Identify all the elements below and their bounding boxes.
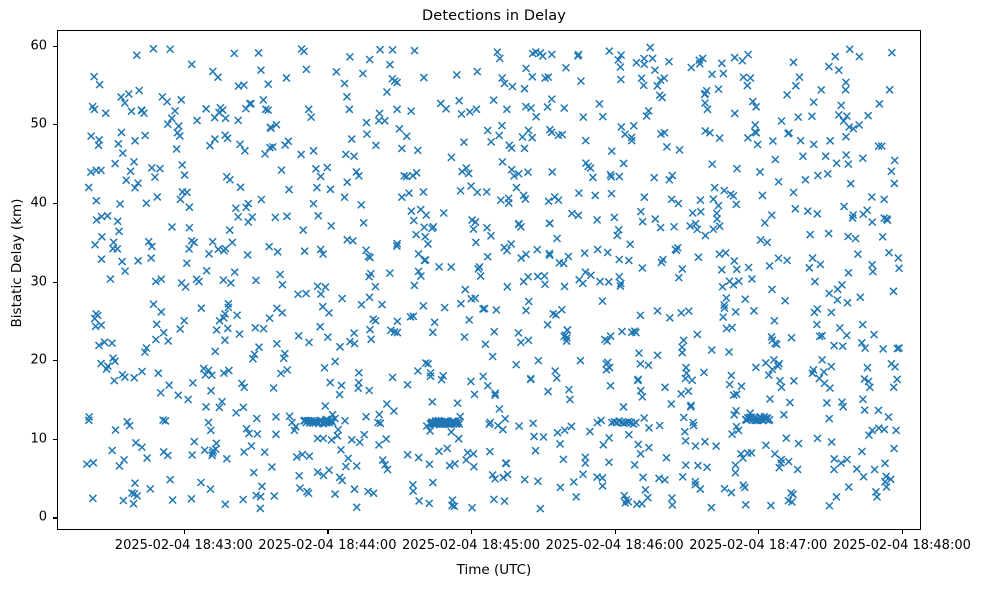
scatter-marker <box>553 375 560 382</box>
scatter-marker <box>205 419 212 426</box>
scatter-marker <box>440 210 447 217</box>
scatter-marker <box>539 53 546 60</box>
scatter-marker <box>423 212 430 219</box>
scatter-marker <box>319 303 326 310</box>
scatter-marker <box>676 146 683 153</box>
scatter-marker <box>179 161 186 168</box>
scatter-marker <box>295 332 302 339</box>
scatter-marker <box>529 134 536 141</box>
scatter-marker <box>114 245 121 252</box>
scatter-marker <box>119 150 126 157</box>
scatter-marker <box>784 91 791 98</box>
scatter-marker <box>762 359 769 366</box>
scatter-marker <box>633 501 640 508</box>
scatter-marker <box>280 355 287 362</box>
scatter-marker <box>489 353 496 360</box>
scatter-marker <box>671 223 678 230</box>
scatter-marker <box>826 415 833 422</box>
scatter-marker <box>370 490 377 497</box>
scatter-marker <box>502 460 509 467</box>
scatter-marker <box>715 86 722 93</box>
scatter-marker <box>332 358 339 365</box>
scatter-marker <box>645 362 652 369</box>
scatter-marker <box>462 286 469 293</box>
scatter-marker <box>826 385 833 392</box>
matplotlib-figure: Detections in Delay Bistatic Delay (km) … <box>0 0 988 590</box>
scatter-marker <box>339 295 346 302</box>
scatter-marker <box>625 431 632 438</box>
scatter-marker <box>842 86 849 93</box>
scatter-marker <box>143 200 150 207</box>
scatter-marker <box>110 239 117 246</box>
scatter-marker <box>641 55 648 62</box>
scatter-marker <box>682 437 689 444</box>
scatter-marker <box>98 233 105 240</box>
scatter-marker <box>160 448 167 455</box>
scatter-marker <box>540 434 547 441</box>
scatter-marker <box>383 401 390 408</box>
scatter-marker <box>814 172 821 179</box>
scatter-marker <box>338 382 345 389</box>
scatter-marker <box>261 449 268 456</box>
scatter-marker <box>721 485 728 492</box>
scatter-marker <box>818 86 825 93</box>
scatter-marker <box>517 339 524 346</box>
scatter-marker <box>166 382 173 389</box>
scatter-marker <box>678 390 685 397</box>
scatter-marker <box>268 463 275 470</box>
scatter-marker <box>513 184 520 191</box>
scatter-marker <box>627 241 634 248</box>
scatter-marker <box>206 142 213 149</box>
scatter-marker <box>213 327 220 334</box>
scatter-marker <box>748 275 755 282</box>
scatter-marker <box>296 472 303 479</box>
scatter-marker <box>778 384 785 391</box>
scatter-marker <box>896 265 903 272</box>
scatter-marker <box>831 342 838 349</box>
scatter-marker <box>345 455 352 462</box>
scatter-marker <box>577 357 584 364</box>
scatter-marker <box>838 102 845 109</box>
scatter-marker <box>742 296 749 303</box>
scatter-marker <box>768 212 775 219</box>
scatter-marker <box>260 96 267 103</box>
scatter-marker <box>258 196 265 203</box>
scatter-marker <box>414 367 421 374</box>
scatter-marker <box>702 232 709 239</box>
scatter-marker <box>586 428 593 435</box>
scatter-marker <box>754 141 761 148</box>
scatter-marker <box>363 413 370 420</box>
scatter-marker <box>790 189 797 196</box>
scatter-marker <box>355 369 362 376</box>
scatter-marker <box>504 471 511 478</box>
scatter-marker <box>351 486 358 493</box>
scatter-marker <box>500 474 507 481</box>
scatter-marker <box>154 193 161 200</box>
scatter-marker <box>692 443 699 450</box>
x-tick-label: 2025-02-04 18:46:00 <box>546 538 684 553</box>
scatter-marker <box>802 176 809 183</box>
scatter-marker <box>128 108 135 115</box>
scatter-marker <box>85 184 92 191</box>
scatter-marker <box>836 324 843 331</box>
scatter-marker <box>172 107 179 114</box>
scatter-marker <box>761 219 768 226</box>
scatter-marker <box>766 262 773 269</box>
scatter-marker <box>891 180 898 187</box>
scatter-marker <box>744 82 751 89</box>
scatter-marker <box>372 317 379 324</box>
scatter-marker <box>466 108 473 115</box>
scatter-marker <box>186 224 193 231</box>
scatter-marker <box>509 83 516 90</box>
scatter-marker <box>866 384 873 391</box>
scatter-marker <box>744 134 751 141</box>
scatter-marker <box>398 145 405 152</box>
scatter-marker <box>833 160 840 167</box>
scatter-marker <box>303 290 310 297</box>
scatter-marker <box>565 386 572 393</box>
scatter-marker <box>188 61 195 68</box>
scatter-marker <box>348 436 355 443</box>
scatter-marker <box>548 96 555 103</box>
scatter-marker <box>448 263 455 270</box>
scatter-marker <box>455 435 462 442</box>
scatter-marker <box>716 135 723 142</box>
scatter-marker <box>363 247 370 254</box>
scatter-marker <box>157 165 164 172</box>
scatter-marker <box>822 153 829 160</box>
scatter-marker <box>681 428 688 435</box>
scatter-marker <box>490 496 497 503</box>
scatter-marker <box>436 263 443 270</box>
scatter-marker <box>148 255 155 262</box>
scatter-marker <box>420 189 427 196</box>
scatter-marker <box>130 158 137 165</box>
scatter-marker <box>415 454 422 461</box>
scatter-marker <box>709 71 716 78</box>
scatter-marker <box>372 283 379 290</box>
scatter-marker <box>795 440 802 447</box>
scatter-marker <box>121 456 128 463</box>
scatter-marker <box>854 251 861 258</box>
scatter-marker <box>322 403 329 410</box>
scatter-marker <box>348 136 355 143</box>
scatter-marker <box>869 219 876 226</box>
scatter-marker <box>708 346 715 353</box>
scatter-marker <box>396 125 403 132</box>
scatter-marker <box>300 227 307 234</box>
scatter-marker <box>635 441 642 448</box>
x-tick-label: 2025-02-04 18:44:00 <box>258 538 396 553</box>
scatter-marker <box>116 228 123 235</box>
scatter-marker <box>750 307 757 314</box>
scatter-marker <box>525 337 532 344</box>
scatter-marker <box>843 152 850 159</box>
scatter-marker <box>472 239 479 246</box>
scatter-marker <box>356 439 363 446</box>
scatter-marker <box>202 371 209 378</box>
scatter-marker <box>668 495 675 502</box>
scatter-marker <box>429 479 436 486</box>
scatter-marker <box>826 290 833 297</box>
scatter-marker <box>121 99 128 106</box>
scatter-marker <box>468 183 475 190</box>
scatter-marker <box>528 105 535 112</box>
scatter-marker <box>203 403 210 410</box>
scatter-marker <box>545 198 552 205</box>
scatter-marker <box>675 274 682 281</box>
scatter-marker <box>882 460 889 467</box>
scatter-marker <box>151 174 158 181</box>
scatter-marker <box>496 55 503 62</box>
scatter-marker <box>178 96 185 103</box>
scatter-marker <box>463 456 470 463</box>
scatter-marker <box>616 256 623 263</box>
scatter-marker <box>273 305 280 312</box>
scatter-marker <box>366 387 373 394</box>
scatter-marker <box>844 299 851 306</box>
x-tick-mark <box>327 530 328 534</box>
scatter-marker <box>266 315 273 322</box>
scatter-marker <box>326 309 333 316</box>
scatter-marker <box>121 374 128 381</box>
scatter-marker <box>834 296 841 303</box>
scatter-marker <box>621 131 628 138</box>
scatter-marker <box>480 373 487 380</box>
scatter-marker <box>825 63 832 70</box>
scatter-marker <box>555 197 562 204</box>
scatter-marker <box>560 456 567 463</box>
x-tick-mark <box>471 530 472 534</box>
scatter-marker <box>513 361 520 368</box>
scatter-marker <box>298 151 305 158</box>
scatter-marker <box>503 106 510 113</box>
scatter-marker <box>816 375 823 382</box>
scatter-marker <box>317 173 324 180</box>
scatter-marker <box>125 90 132 97</box>
scatter-marker <box>484 253 491 260</box>
scatter-marker <box>235 117 242 124</box>
scatter-marker <box>266 243 273 250</box>
scatter-marker <box>384 89 391 96</box>
scatter-marker <box>225 300 232 307</box>
scatter-marker <box>788 334 795 341</box>
scatter-marker <box>454 400 461 407</box>
scatter-marker <box>810 99 817 106</box>
scatter-marker <box>92 241 99 248</box>
scatter-marker <box>880 345 887 352</box>
scatter-marker <box>685 388 692 395</box>
scatter-marker <box>222 115 229 122</box>
scatter-marker <box>410 488 417 495</box>
scatter-marker <box>775 178 782 185</box>
scatter-marker <box>532 447 539 454</box>
scatter-marker <box>337 446 344 453</box>
scatter-marker <box>179 188 186 195</box>
scatter-marker <box>807 231 814 238</box>
scatter-marker <box>881 426 888 433</box>
scatter-marker <box>668 196 675 203</box>
scatter-marker <box>188 495 195 502</box>
scatter-marker <box>255 344 262 351</box>
scatter-marker <box>811 278 818 285</box>
scatter-marker <box>155 370 162 377</box>
scatter-marker <box>721 187 728 194</box>
scatter-marker <box>549 168 556 175</box>
scatter-marker <box>694 226 701 233</box>
scatter-marker <box>747 74 754 81</box>
scatter-marker <box>752 364 759 371</box>
scatter-marker <box>666 314 673 321</box>
scatter-marker <box>778 118 785 125</box>
scatter-marker <box>605 459 612 466</box>
scatter-marker <box>733 165 740 172</box>
scatter-marker <box>718 60 725 67</box>
scatter-marker <box>577 78 584 85</box>
scatter-marker <box>561 105 568 112</box>
scatter-marker <box>224 325 231 332</box>
y-tick-label: 50 <box>30 117 47 132</box>
x-tick-label: 2025-02-04 18:48:00 <box>833 538 971 553</box>
scatter-marker <box>654 307 661 314</box>
scatter-marker <box>360 219 367 226</box>
scatter-marker <box>123 177 130 184</box>
scatter-marker <box>220 247 227 254</box>
scatter-marker <box>205 250 212 257</box>
scatter-marker <box>284 367 291 374</box>
scatter-marker <box>654 352 661 359</box>
scatter-marker <box>891 157 898 164</box>
scatter-marker <box>570 479 577 486</box>
scatter-marker <box>209 238 216 245</box>
scatter-marker <box>695 254 702 261</box>
scatter-marker <box>183 260 190 267</box>
scatter-marker <box>236 141 243 148</box>
chart-title: Detections in Delay <box>0 8 988 24</box>
scatter-marker <box>666 176 673 183</box>
scatter-marker <box>157 389 164 396</box>
scatter-marker <box>167 46 174 53</box>
scatter-marker <box>403 133 410 140</box>
scatter-marker <box>566 396 573 403</box>
scatter-marker <box>223 173 230 180</box>
scatter-marker <box>466 316 473 323</box>
scatter-marker <box>770 356 777 363</box>
scatter-marker <box>153 321 160 328</box>
scatter-marker <box>826 502 833 509</box>
scatter-marker <box>260 325 267 332</box>
scatter-marker <box>167 476 174 483</box>
scatter-marker <box>150 45 157 52</box>
scatter-marker <box>117 201 124 208</box>
scatter-marker <box>232 205 239 212</box>
scatter-marker <box>443 105 450 112</box>
scatter-marker <box>270 385 277 392</box>
scatter-marker <box>327 379 334 386</box>
scatter-marker <box>663 143 670 150</box>
scatter-marker <box>389 46 396 53</box>
scatter-marker <box>277 271 284 278</box>
scatter-marker <box>860 211 867 218</box>
scatter-marker <box>315 212 322 219</box>
scatter-marker <box>252 277 259 284</box>
scatter-marker <box>611 214 618 221</box>
scatter-marker <box>615 226 622 233</box>
scatter-marker <box>272 413 279 420</box>
scatter-marker <box>368 336 375 343</box>
scatter-marker <box>809 255 816 262</box>
scatter-marker <box>726 381 733 388</box>
scatter-marker <box>159 93 166 100</box>
scatter-marker <box>828 309 835 316</box>
scatter-marker <box>413 231 420 238</box>
scatter-marker <box>501 498 508 505</box>
scatter-marker <box>641 194 648 201</box>
scatter-marker <box>544 321 551 328</box>
scatter-marker <box>118 129 125 136</box>
scatter-marker <box>233 409 240 416</box>
scatter-marker <box>842 133 849 140</box>
scatter-marker <box>448 154 455 161</box>
scatter-marker <box>881 196 888 203</box>
scatter-marker <box>828 439 835 446</box>
scatter-marker <box>317 323 324 330</box>
scatter-marker <box>213 440 220 447</box>
scatter-marker <box>277 370 284 377</box>
scatter-marker <box>544 103 551 110</box>
scatter-marker <box>767 502 774 509</box>
scatter-marker <box>89 495 96 502</box>
scatter-marker <box>522 103 529 110</box>
scatter-marker <box>579 280 586 287</box>
scatter-marker <box>344 236 351 243</box>
scatter-marker <box>415 250 422 257</box>
scatter-marker <box>546 220 553 227</box>
scatter-marker <box>353 504 360 511</box>
scatter-marker <box>231 269 238 276</box>
scatter-marker <box>351 153 358 160</box>
scatter-marker <box>656 475 663 482</box>
scatter-marker <box>461 334 468 341</box>
scatter-marker <box>300 48 307 55</box>
scatter-marker <box>343 93 350 100</box>
scatter-marker <box>227 279 234 286</box>
scatter-marker <box>694 462 701 469</box>
scatter-marker <box>312 165 319 172</box>
scatter-marker <box>775 255 782 262</box>
scatter-marker <box>776 360 783 367</box>
scatter-marker <box>286 413 293 420</box>
scatter-marker <box>424 240 431 247</box>
scatter-marker <box>453 71 460 78</box>
scatter-marker <box>859 155 866 162</box>
scatter-marker <box>704 464 711 471</box>
scatter-marker <box>234 312 241 319</box>
scatter-marker <box>592 192 599 199</box>
scatter-marker <box>457 300 464 307</box>
scatter-marker <box>757 168 764 175</box>
scatter-marker <box>600 441 607 448</box>
scatter-marker <box>495 422 502 429</box>
scatter-marker <box>661 476 668 483</box>
scatter-marker <box>845 269 852 276</box>
scatter-marker <box>620 403 627 410</box>
scatter-marker <box>561 283 568 290</box>
scatter-marker <box>278 167 285 174</box>
